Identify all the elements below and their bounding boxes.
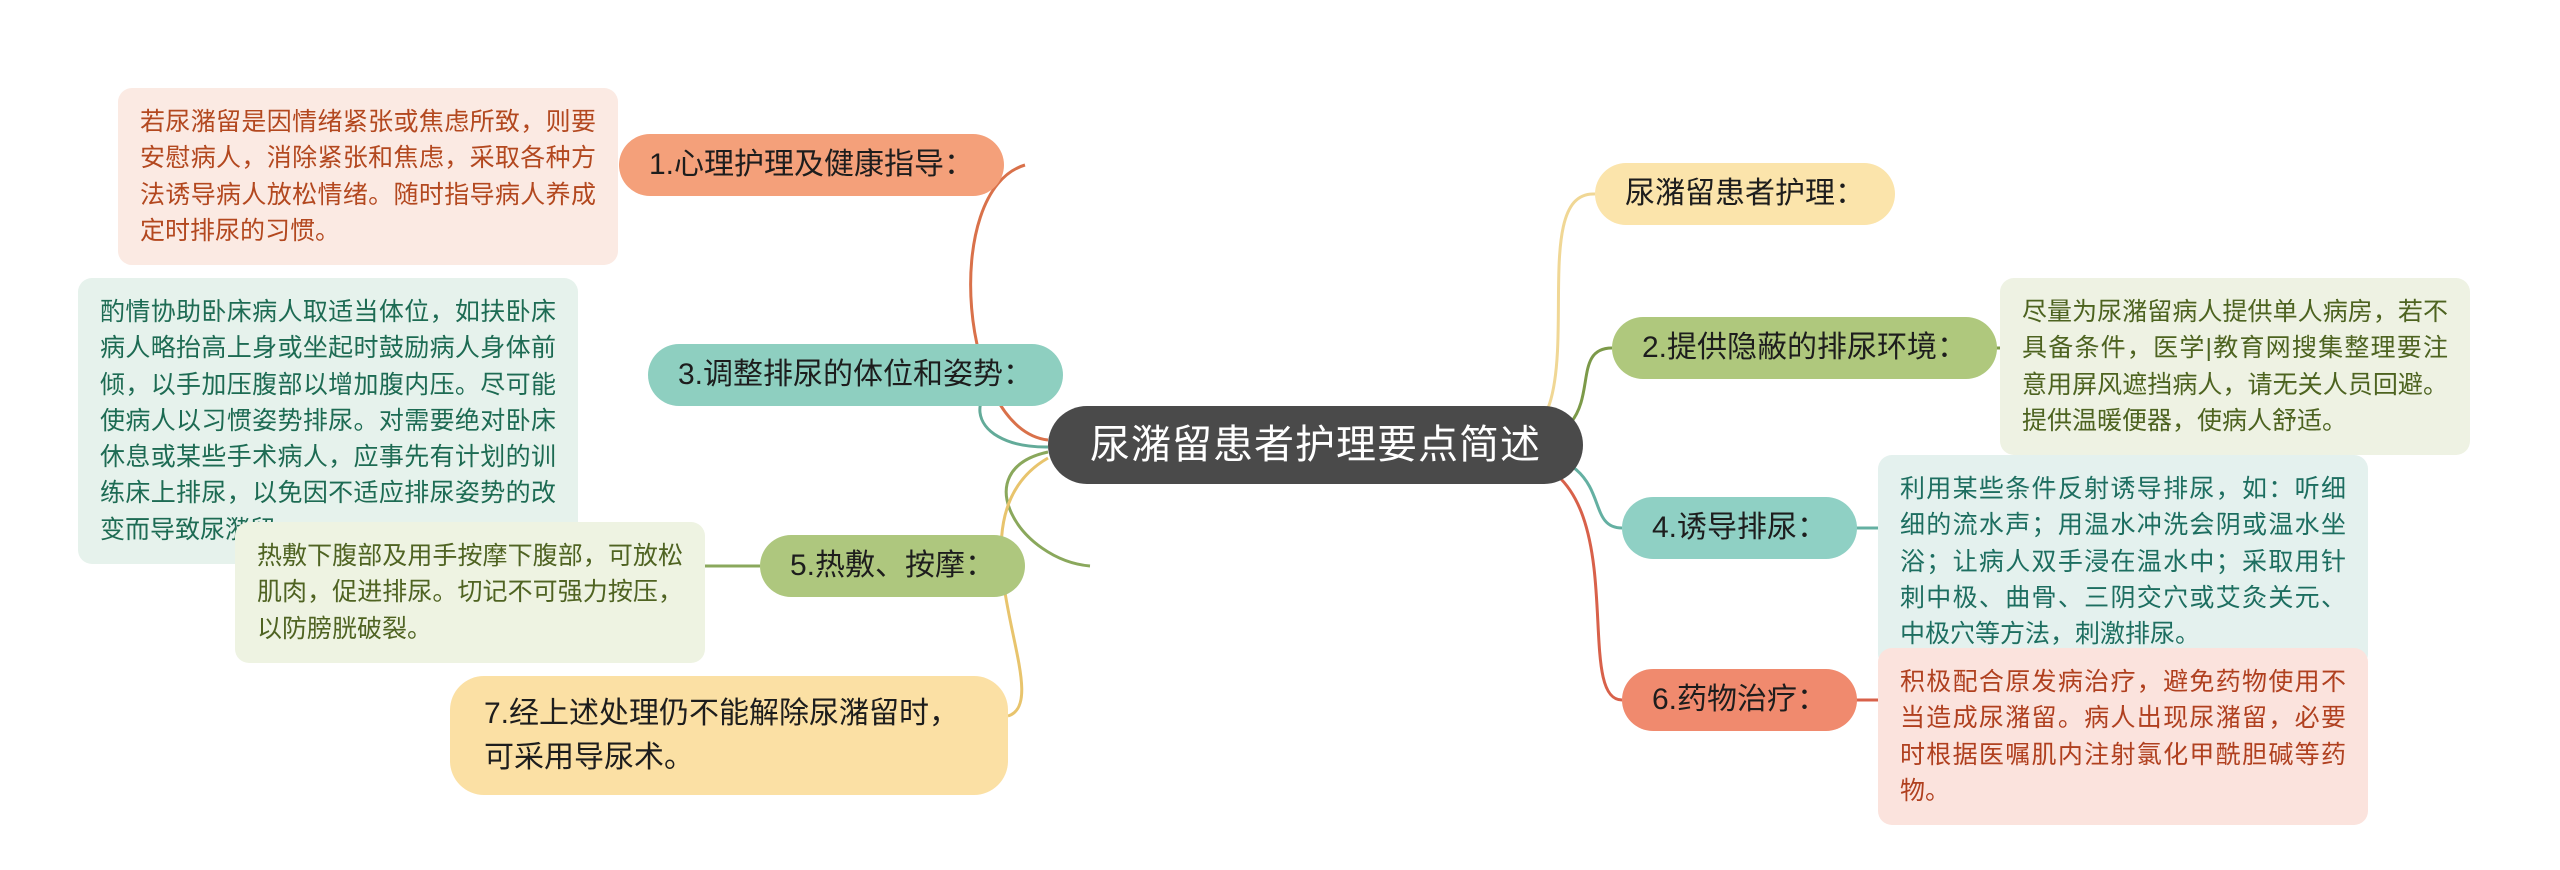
branch-node-7[interactable]: 7.经上述处理仍不能解除尿潴留时，可采用导尿术。 <box>450 676 1008 795</box>
detail-text-4: 利用某些条件反射诱导排尿，如：听细细的流水声；用温水冲洗会阴或温水坐浴；让病人双… <box>1900 475 2346 648</box>
detail-text-1: 若尿潴留是因情绪紧张或焦虑所致，则要安慰病人，消除紧张和焦虑，采取各种方法诱导病… <box>140 108 596 245</box>
branch-label-1: 1.心理护理及健康指导： <box>649 150 974 180</box>
detail-text-6: 积极配合原发病治疗，避免药物使用不当造成尿潴留。病人出现尿潴留，必要时根据医嘱肌… <box>1900 668 2346 805</box>
branch-label-7: 7.经上述处理仍不能解除尿潴留时，可采用导尿术。 <box>484 697 959 774</box>
branch-label-6: 6.药物治疗： <box>1652 685 1827 715</box>
branch-node-3[interactable]: 3.调整排尿的体位和姿势： <box>648 344 1063 406</box>
branch-label-2: 2.提供隐蔽的排尿环境： <box>1642 333 1967 363</box>
mindmap-canvas: 尿潴留患者护理要点简述 1.心理护理及健康指导： 若尿潴留是因情绪紧张或焦虑所致… <box>0 0 2560 870</box>
central-topic-node[interactable]: 尿潴留患者护理要点简述 <box>1048 406 1583 484</box>
detail-box-1: 若尿潴留是因情绪紧张或焦虑所致，则要安慰病人，消除紧张和焦虑，采取各种方法诱导病… <box>118 88 618 265</box>
branch-node-right-title[interactable]: 尿潴留患者护理： <box>1595 163 1895 225</box>
branch-label-3: 3.调整排尿的体位和姿势： <box>678 360 1033 390</box>
branch-node-5[interactable]: 5.热敷、按摩： <box>760 535 1025 597</box>
detail-text-2: 尽量为尿潴留病人提供单人病房，若不具备条件，医学|教育网搜集整理要注意用屏风遮挡… <box>2022 298 2448 435</box>
branch-node-1[interactable]: 1.心理护理及健康指导： <box>619 134 1004 196</box>
detail-text-5: 热敷下腹部及用手按摩下腹部，可放松肌肉，促进排尿。切记不可强力按压，以防膀胱破裂… <box>257 542 683 643</box>
detail-box-3: 酌情协助卧床病人取适当体位，如扶卧床病人略抬高上身或坐起时鼓励病人身体前倾，以手… <box>78 278 578 564</box>
branch-label-right-title: 尿潴留患者护理： <box>1625 179 1865 209</box>
detail-box-6: 积极配合原发病治疗，避免药物使用不当造成尿潴留。病人出现尿潴留，必要时根据医嘱肌… <box>1878 648 2368 825</box>
detail-box-2: 尽量为尿潴留病人提供单人病房，若不具备条件，医学|教育网搜集整理要注意用屏风遮挡… <box>2000 278 2470 455</box>
branch-node-4[interactable]: 4.诱导排尿： <box>1622 497 1857 559</box>
central-topic-label: 尿潴留患者护理要点简述 <box>1090 425 1541 465</box>
branch-label-5: 5.热敷、按摩： <box>790 551 995 581</box>
detail-box-4: 利用某些条件反射诱导排尿，如：听细细的流水声；用温水冲洗会阴或温水坐浴；让病人双… <box>1878 455 2368 668</box>
branch-label-4: 4.诱导排尿： <box>1652 513 1827 543</box>
detail-box-5: 热敷下腹部及用手按摩下腹部，可放松肌肉，促进排尿。切记不可强力按压，以防膀胱破裂… <box>235 522 705 663</box>
detail-text-3: 酌情协助卧床病人取适当体位，如扶卧床病人略抬高上身或坐起时鼓励病人身体前倾，以手… <box>100 298 556 544</box>
branch-node-6[interactable]: 6.药物治疗： <box>1622 669 1857 731</box>
branch-node-2[interactable]: 2.提供隐蔽的排尿环境： <box>1612 317 1997 379</box>
